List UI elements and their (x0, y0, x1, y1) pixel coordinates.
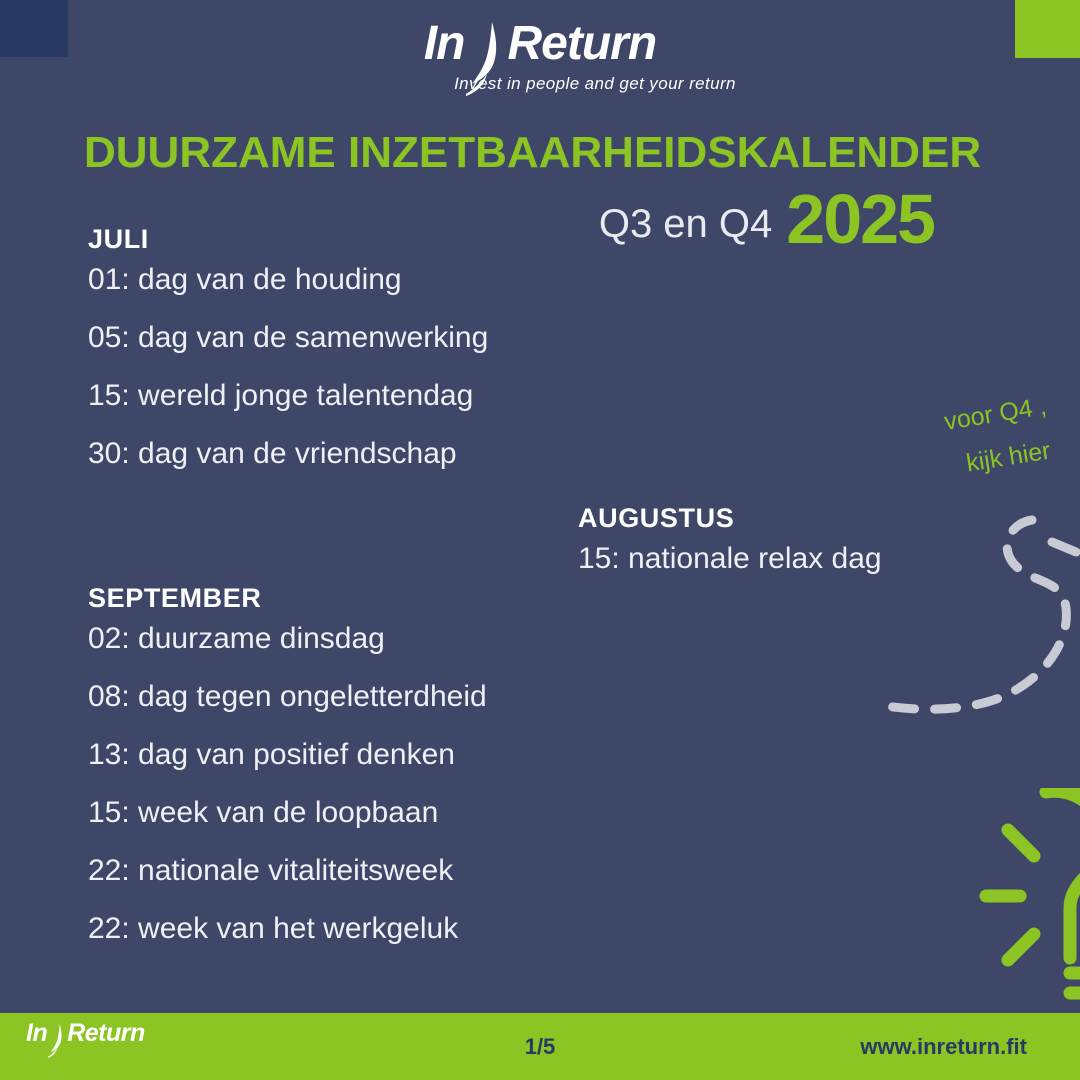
dashed-curved-arrow-icon (880, 490, 1080, 720)
month-heading-augustus: AUGUSTUS (578, 503, 882, 534)
calendar-entry: 13: dag van positief denken (88, 740, 487, 770)
sail-swoosh-icon (462, 20, 506, 98)
month-block-juli: JULI 01: dag van de houding 05: dag van … (88, 224, 488, 497)
calendar-entry: 22: week van het werkgeluk (88, 914, 487, 944)
calendar-entry: 15: nationale relax dag (578, 544, 882, 574)
page-title: DUURZAME INZETBAARHEIDSKALENDER (84, 128, 981, 178)
month-heading-september: SEPTEMBER (88, 583, 487, 614)
calendar-entry: 22: nationale vitaliteitsweek (88, 856, 487, 886)
page-subtitle: Q3 en Q4 2025 (599, 185, 934, 247)
note-line-1: voor Q4 , (942, 392, 1048, 437)
brand-logo-header: In Return Invest in people and get your … (0, 20, 1080, 94)
footer-bar: In Return 1/5 www.inreturn.fit (0, 1013, 1080, 1080)
brand-logo-return: Return (507, 20, 656, 68)
calendar-entry: 15: wereld jonge talentendag (88, 381, 488, 411)
brand-logo-in: In (424, 20, 465, 68)
calendar-entry: 08: dag tegen ongeletterdheid (88, 682, 487, 712)
month-block-augustus: AUGUSTUS 15: nationale relax dag (578, 503, 882, 602)
title-quarters: Q3 en Q4 (599, 202, 772, 247)
calendar-entry: 02: duurzame dinsdag (88, 624, 487, 654)
footer-website-url[interactable]: www.inreturn.fit (860, 1034, 1027, 1060)
month-heading-juli: JULI (88, 224, 488, 255)
note-line-2: kijk hier (964, 437, 1052, 479)
calendar-entry: 15: week van de loopbaan (88, 798, 487, 828)
lightbulb-idea-icon (958, 788, 1080, 1008)
month-block-september: SEPTEMBER 02: duurzame dinsdag 08: dag t… (88, 583, 487, 972)
calendar-entry: 05: dag van de samenwerking (88, 323, 488, 353)
title-year: 2025 (786, 191, 934, 247)
calendar-entry: 01: dag van de houding (88, 265, 488, 295)
calendar-entry: 30: dag van de vriendschap (88, 439, 488, 469)
